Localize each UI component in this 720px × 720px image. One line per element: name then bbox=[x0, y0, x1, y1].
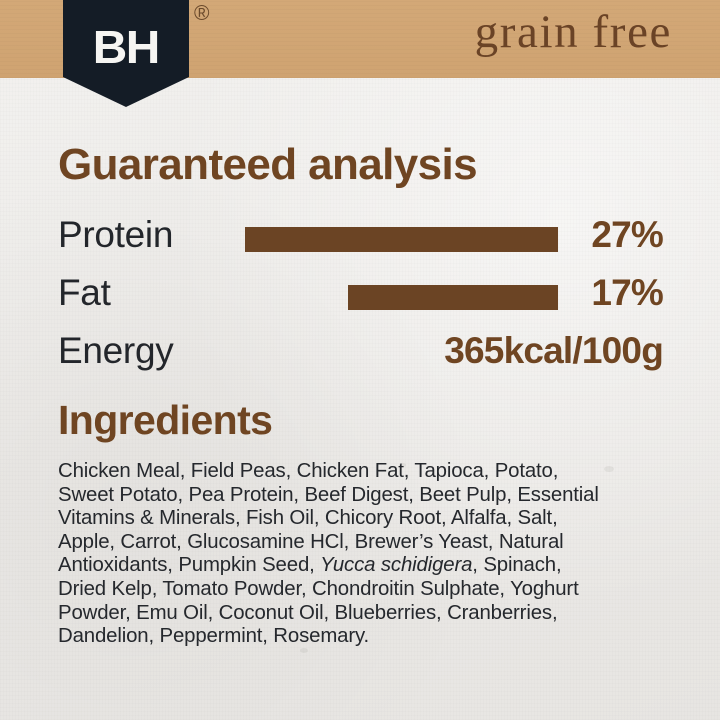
analysis-bar-protein bbox=[245, 227, 558, 252]
analysis-label-fat: Fat bbox=[58, 270, 111, 316]
guaranteed-analysis-heading: Guaranteed analysis bbox=[58, 143, 477, 187]
grain-free-tagline: grain free bbox=[475, 9, 672, 56]
analysis-label-protein: Protein bbox=[58, 212, 173, 258]
analysis-value-protein: 27% bbox=[591, 212, 663, 258]
analysis-row-energy: Energy 365kcal/100g bbox=[0, 328, 720, 374]
analysis-value-fat: 17% bbox=[591, 270, 663, 316]
analysis-bar-fat bbox=[348, 285, 558, 310]
ingredients-text: Chicken Meal, Field Peas, Chicken Fat, T… bbox=[58, 460, 614, 649]
analysis-value-energy: 365kcal/100g bbox=[444, 328, 663, 374]
analysis-row-protein: Protein 27% bbox=[0, 212, 720, 258]
analysis-row-fat: Fat 17% bbox=[0, 270, 720, 316]
brand-shield-badge: BH bbox=[63, 0, 189, 107]
paper-speck bbox=[300, 648, 308, 653]
ingredients-heading: Ingredients bbox=[58, 400, 272, 441]
registered-trademark-icon: ® bbox=[194, 3, 209, 24]
pet-food-label-panel: BH ® grain free Guaranteed analysis Prot… bbox=[0, 0, 720, 720]
analysis-label-energy: Energy bbox=[58, 328, 173, 374]
brand-logo-text: BH bbox=[93, 24, 159, 70]
ingredients-italic-term: Yucca schidigera bbox=[320, 554, 472, 576]
